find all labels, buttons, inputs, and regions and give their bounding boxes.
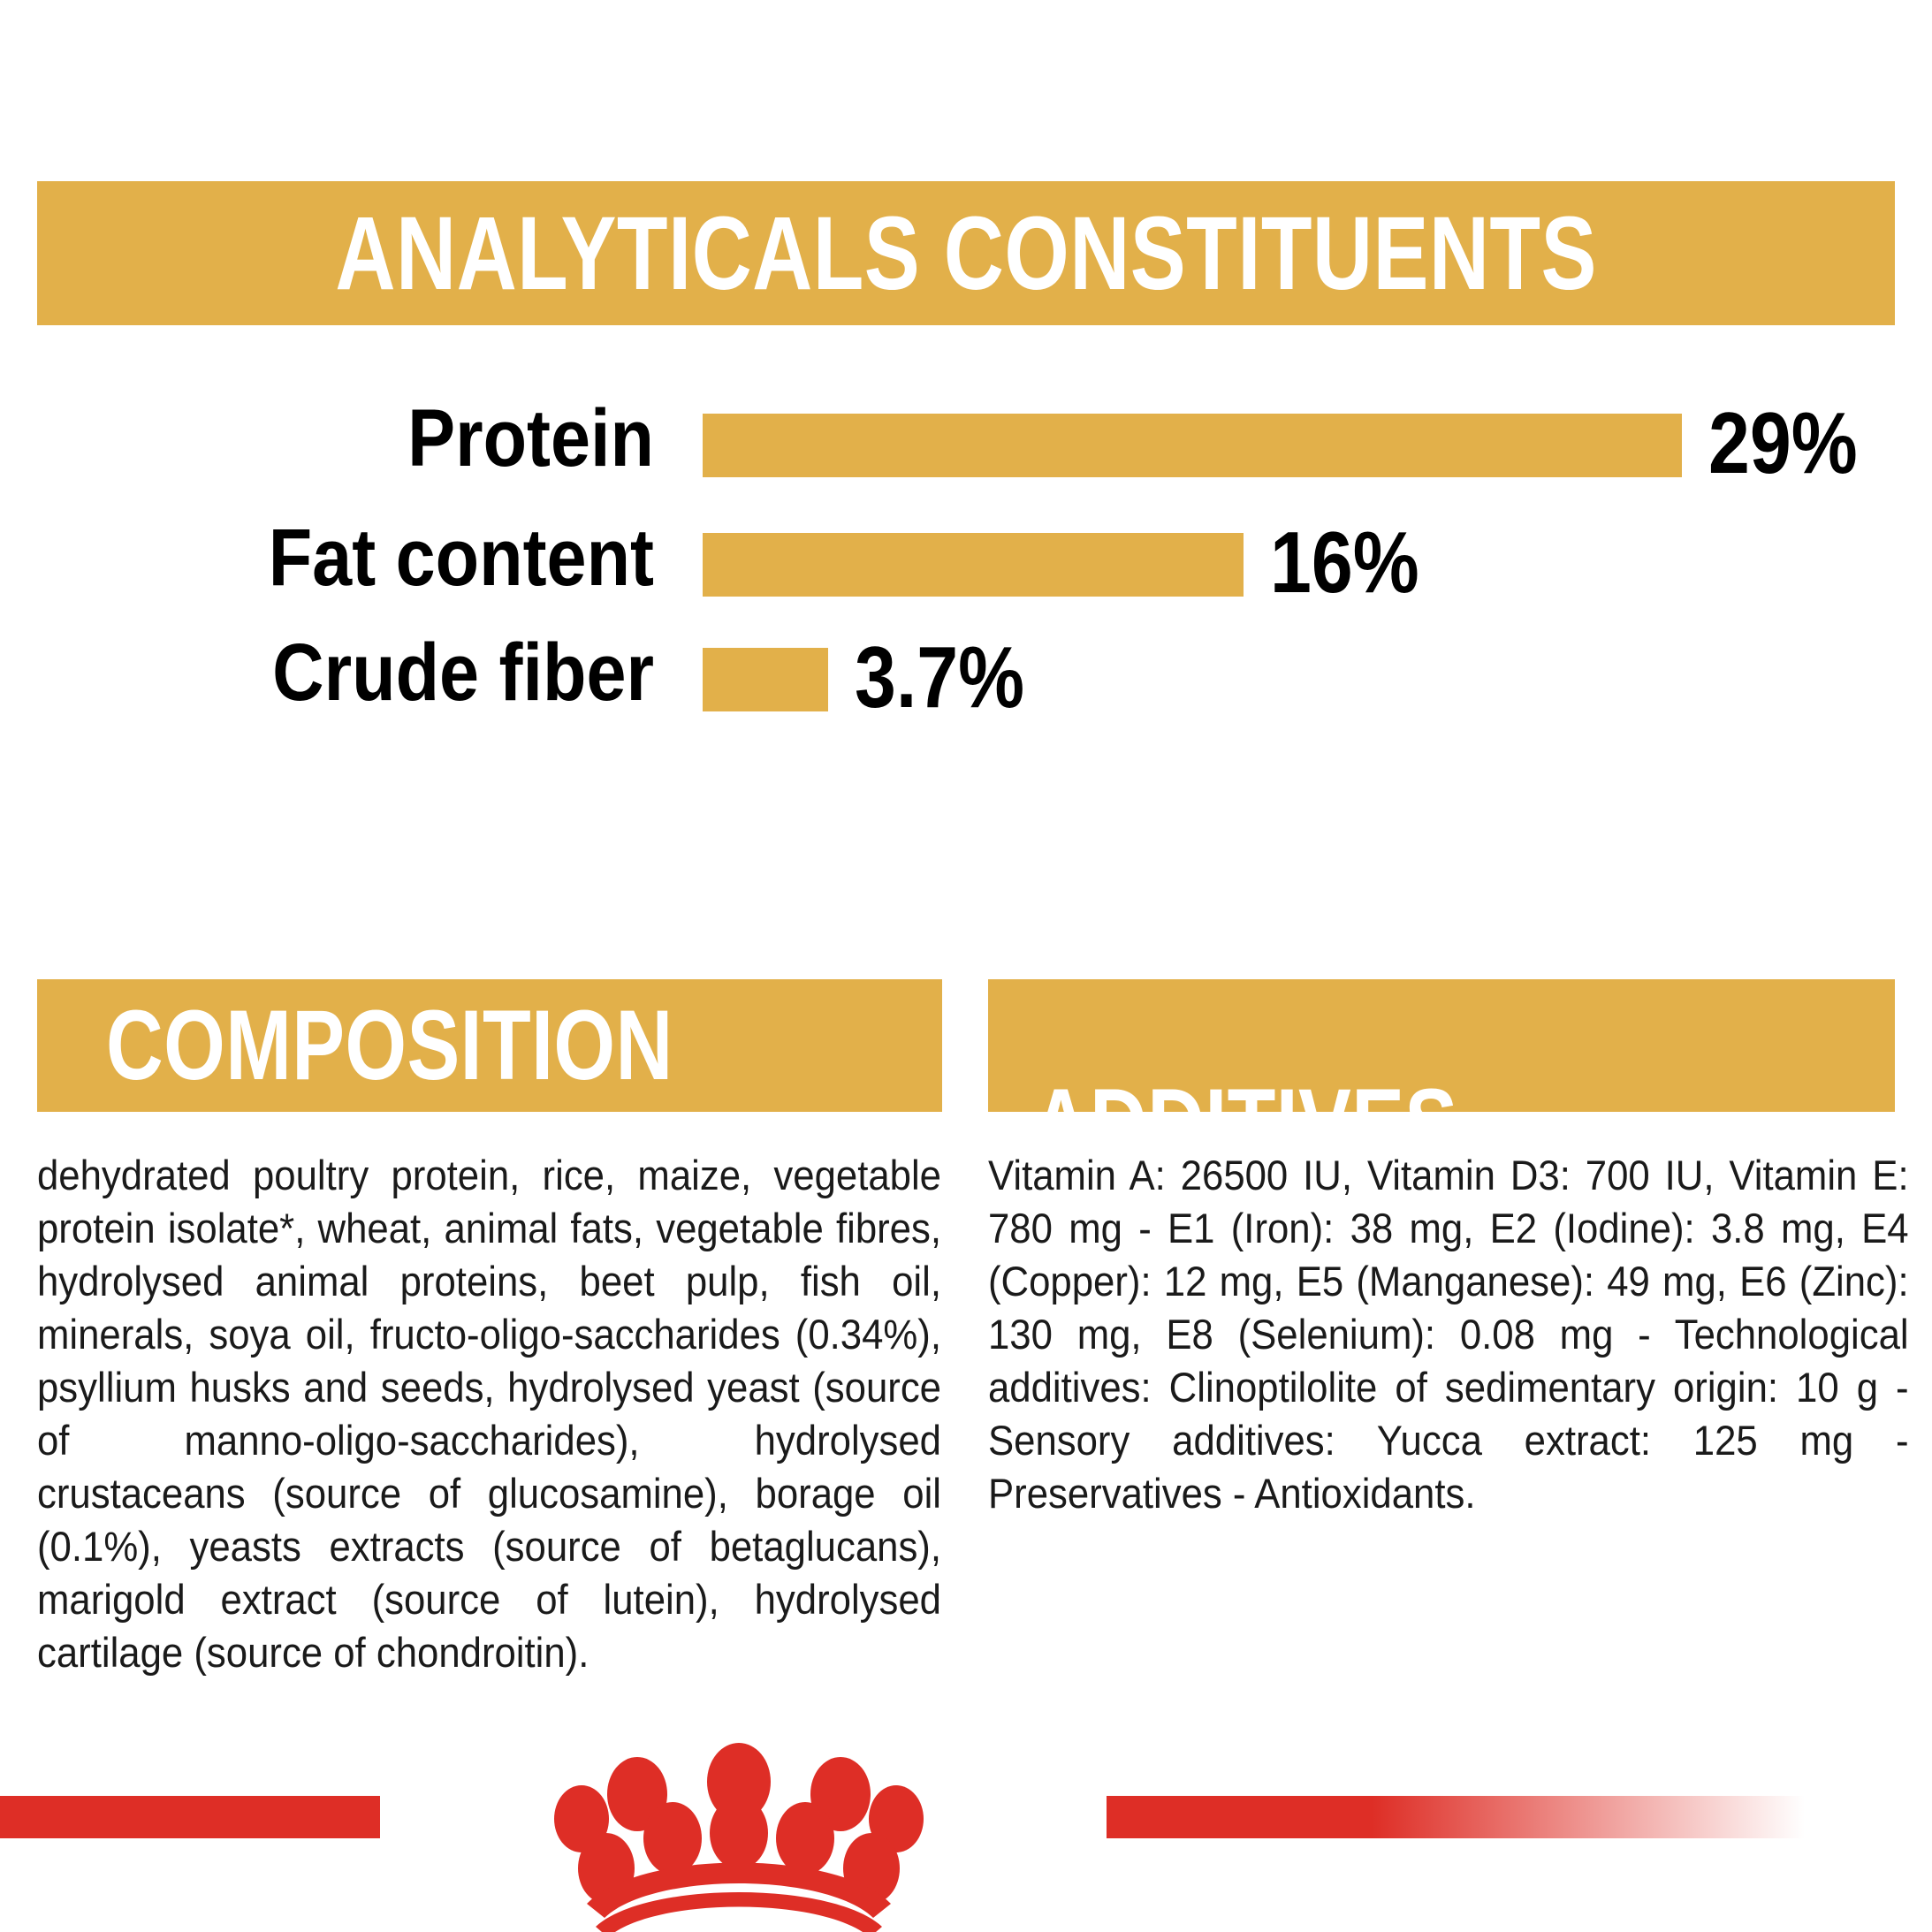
analyticals-header-title: ANALYTICALS CONSTITUENTS (335, 202, 1596, 306)
chart-label-crude-fiber: Crude fiber (110, 632, 654, 713)
nutrition-label-page: ANALYTICALS CONSTITUENTS Protein 29% Fat… (0, 0, 1932, 1932)
analyticals-bar-chart: Protein 29% Fat content 16% Crude fiber … (0, 389, 1932, 742)
footer (0, 1741, 1932, 1932)
chart-value-crude-fiber: 3.7% (855, 634, 1024, 720)
chart-label-fat-content: Fat content (110, 517, 654, 598)
chart-row-crude-fiber: Crude fiber 3.7% (0, 623, 1932, 720)
chart-row-fat-content: Fat content 16% (0, 508, 1932, 605)
footer-rule-right (1107, 1796, 1805, 1838)
royal-canin-crown-logo (422, 1741, 1055, 1932)
analyticals-header-bar: ANALYTICALS CONSTITUENTS (37, 181, 1895, 325)
chart-value-fat-content: 16% (1270, 519, 1419, 605)
chart-value-protein: 29% (1708, 399, 1858, 486)
composition-header-title: COMPOSITION (106, 996, 673, 1095)
composition-header-bar: COMPOSITION (37, 979, 942, 1112)
additives-body-text: Vitamin A: 26500 IU, Vitamin D3: 700 IU,… (988, 1149, 1909, 1520)
chart-bar-protein (703, 414, 1682, 477)
chart-bar-fat-content (703, 533, 1244, 597)
chart-row-protein: Protein 29% (0, 389, 1932, 486)
chart-label-protein: Protein (110, 398, 654, 479)
composition-body-text: dehydrated poultry protein, rice, maize,… (37, 1149, 941, 1679)
additives-header-bar: ADDITIVES (per kg) (988, 979, 1895, 1112)
footer-rule-left (0, 1796, 380, 1838)
chart-bar-crude-fiber (703, 648, 828, 711)
